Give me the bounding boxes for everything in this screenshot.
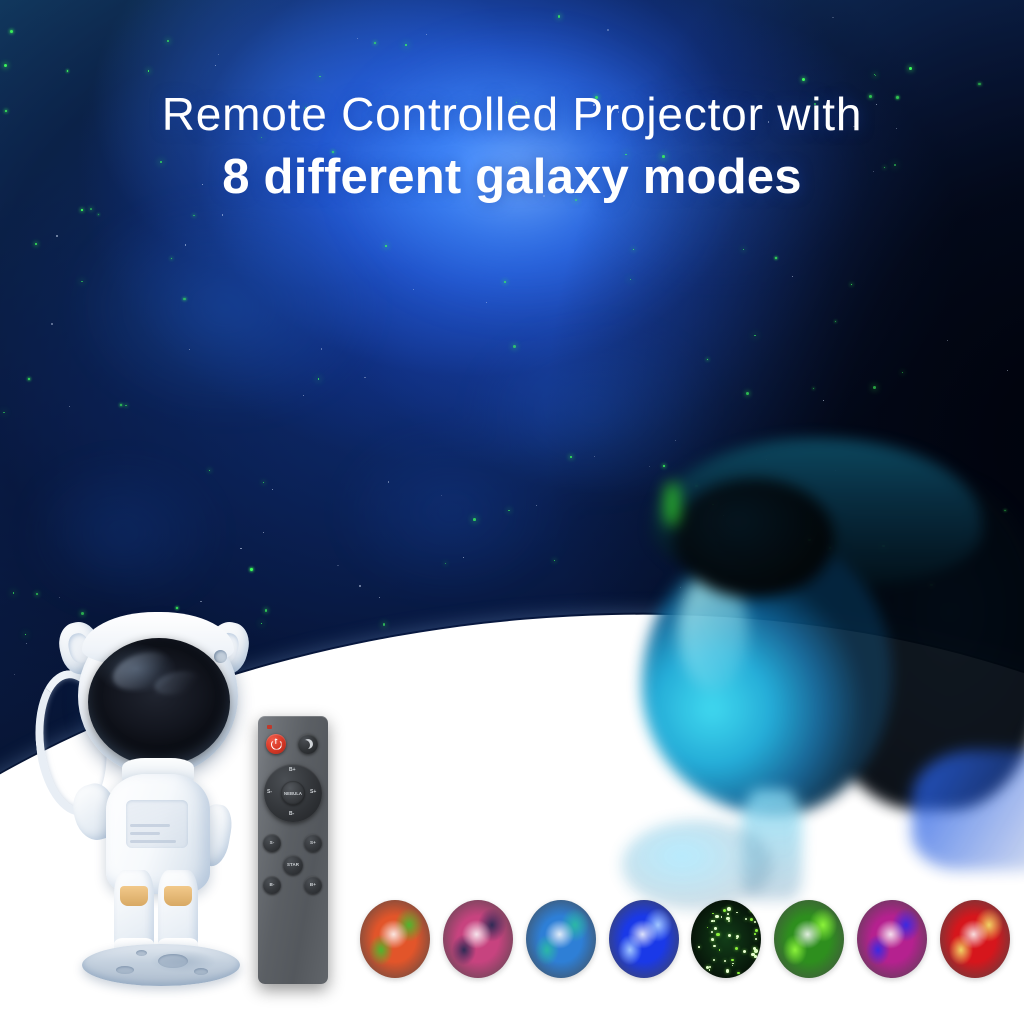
starfield-dot xyxy=(755,929,758,932)
ir-led-indicator xyxy=(267,725,272,729)
starfield-dot xyxy=(755,938,758,941)
headline: Remote Controlled Projector with 8 diffe… xyxy=(0,86,1024,208)
crater-4 xyxy=(136,950,147,956)
starfield-dot xyxy=(711,938,714,941)
mode-blue-nebula xyxy=(609,900,679,978)
starfield-dot xyxy=(714,927,717,930)
dpad-left-label: S- xyxy=(267,790,272,795)
helmet-port xyxy=(214,650,227,663)
blurred-visor xyxy=(674,478,834,598)
starfield-dot xyxy=(736,935,739,938)
blurred-astronaut-projector xyxy=(612,420,1024,890)
starfield-dot xyxy=(711,931,713,933)
starfield-dot xyxy=(707,927,708,928)
starfield-dot xyxy=(754,921,756,923)
nebula-dpad[interactable]: B+ B- S- S+ NEBULA xyxy=(264,764,322,822)
astronaut-galaxy-projector xyxy=(30,608,265,976)
starfield-dot xyxy=(751,953,755,957)
knee-pad-right xyxy=(164,886,192,906)
starfield-dot xyxy=(745,918,748,921)
brightness-up-button[interactable]: B+ xyxy=(304,876,322,894)
starfield-dot xyxy=(698,946,700,948)
chest-line-1 xyxy=(130,824,170,827)
mode-orange-nebula xyxy=(360,900,430,978)
product-marketing-banner: Remote Controlled Projector with 8 diffe… xyxy=(0,0,1024,1024)
speed-up-button[interactable]: S+ xyxy=(304,834,322,852)
galaxy-mode-swatches xyxy=(360,898,1010,980)
mode-green-starfield xyxy=(691,900,761,978)
mode-purple-nebula xyxy=(857,900,927,978)
blurred-blue-fold xyxy=(912,750,1024,870)
starfield-dot xyxy=(726,969,730,973)
starfield-dots xyxy=(691,900,761,978)
starfield-dot xyxy=(723,909,726,912)
starfield-dot xyxy=(724,960,726,962)
starfield-dot xyxy=(731,959,733,961)
nebula-button[interactable]: NEBULA xyxy=(281,781,305,805)
projector-visor-lens xyxy=(88,638,230,766)
timer-button[interactable] xyxy=(298,734,318,754)
starfield-dot xyxy=(735,947,738,950)
starfield-dot xyxy=(713,945,716,948)
crater-3 xyxy=(194,968,208,975)
starfield-dot xyxy=(713,959,715,961)
projector-remote-control[interactable]: B+ B- S- S+ NEBULA S- S+ STAR B- B+ xyxy=(258,716,328,984)
mode-green-nebula xyxy=(774,900,844,978)
starfield-dot xyxy=(716,933,719,936)
power-icon xyxy=(271,739,282,750)
blurred-base xyxy=(622,820,772,910)
starfield-dot xyxy=(728,920,731,923)
starfield-dot xyxy=(732,963,734,965)
blurred-green-laser xyxy=(664,482,680,526)
starfield-dot xyxy=(728,934,731,937)
speed-down-button[interactable]: S- xyxy=(263,834,281,852)
moon-surface-base xyxy=(82,944,240,986)
starfield-dot xyxy=(751,972,754,975)
mode-cyan-nebula xyxy=(526,900,596,978)
mode-red-nebula xyxy=(940,900,1010,978)
star-mode-button[interactable]: STAR xyxy=(283,855,303,875)
brightness-down-button[interactable]: B- xyxy=(263,876,281,894)
knee-pad-left xyxy=(120,886,148,906)
headline-line-1: Remote Controlled Projector with xyxy=(0,86,1024,142)
starfield-dot xyxy=(709,969,711,971)
chest-line-2 xyxy=(130,832,160,835)
starfield-dot xyxy=(719,949,720,950)
headline-line-2: 8 different galaxy modes xyxy=(0,146,1024,208)
starfield-dot xyxy=(736,912,738,914)
dpad-right-label: S+ xyxy=(310,790,316,795)
dpad-down-label: B- xyxy=(289,812,294,817)
crater-2 xyxy=(116,966,134,974)
starfield-dot xyxy=(732,965,733,966)
chest-line-3 xyxy=(130,840,176,843)
starfield-dot xyxy=(712,913,713,914)
crater-1 xyxy=(158,954,188,968)
starfield-dot xyxy=(709,966,711,968)
starfield-dot xyxy=(743,950,746,953)
starfield-dot xyxy=(737,972,739,974)
starfield-dot xyxy=(715,915,719,919)
starfield-dot xyxy=(727,913,729,915)
starfield-dot xyxy=(714,920,716,922)
starfield-dot xyxy=(750,909,753,912)
mode-pink-nebula xyxy=(443,900,513,978)
power-button[interactable] xyxy=(266,734,286,754)
starfield-dot xyxy=(727,907,731,911)
dpad-up-label: B+ xyxy=(289,768,296,773)
starfield-dot xyxy=(721,916,723,918)
moon-timer-icon xyxy=(303,739,313,749)
starfield-dot xyxy=(754,933,756,935)
starfield-dot xyxy=(750,918,753,921)
